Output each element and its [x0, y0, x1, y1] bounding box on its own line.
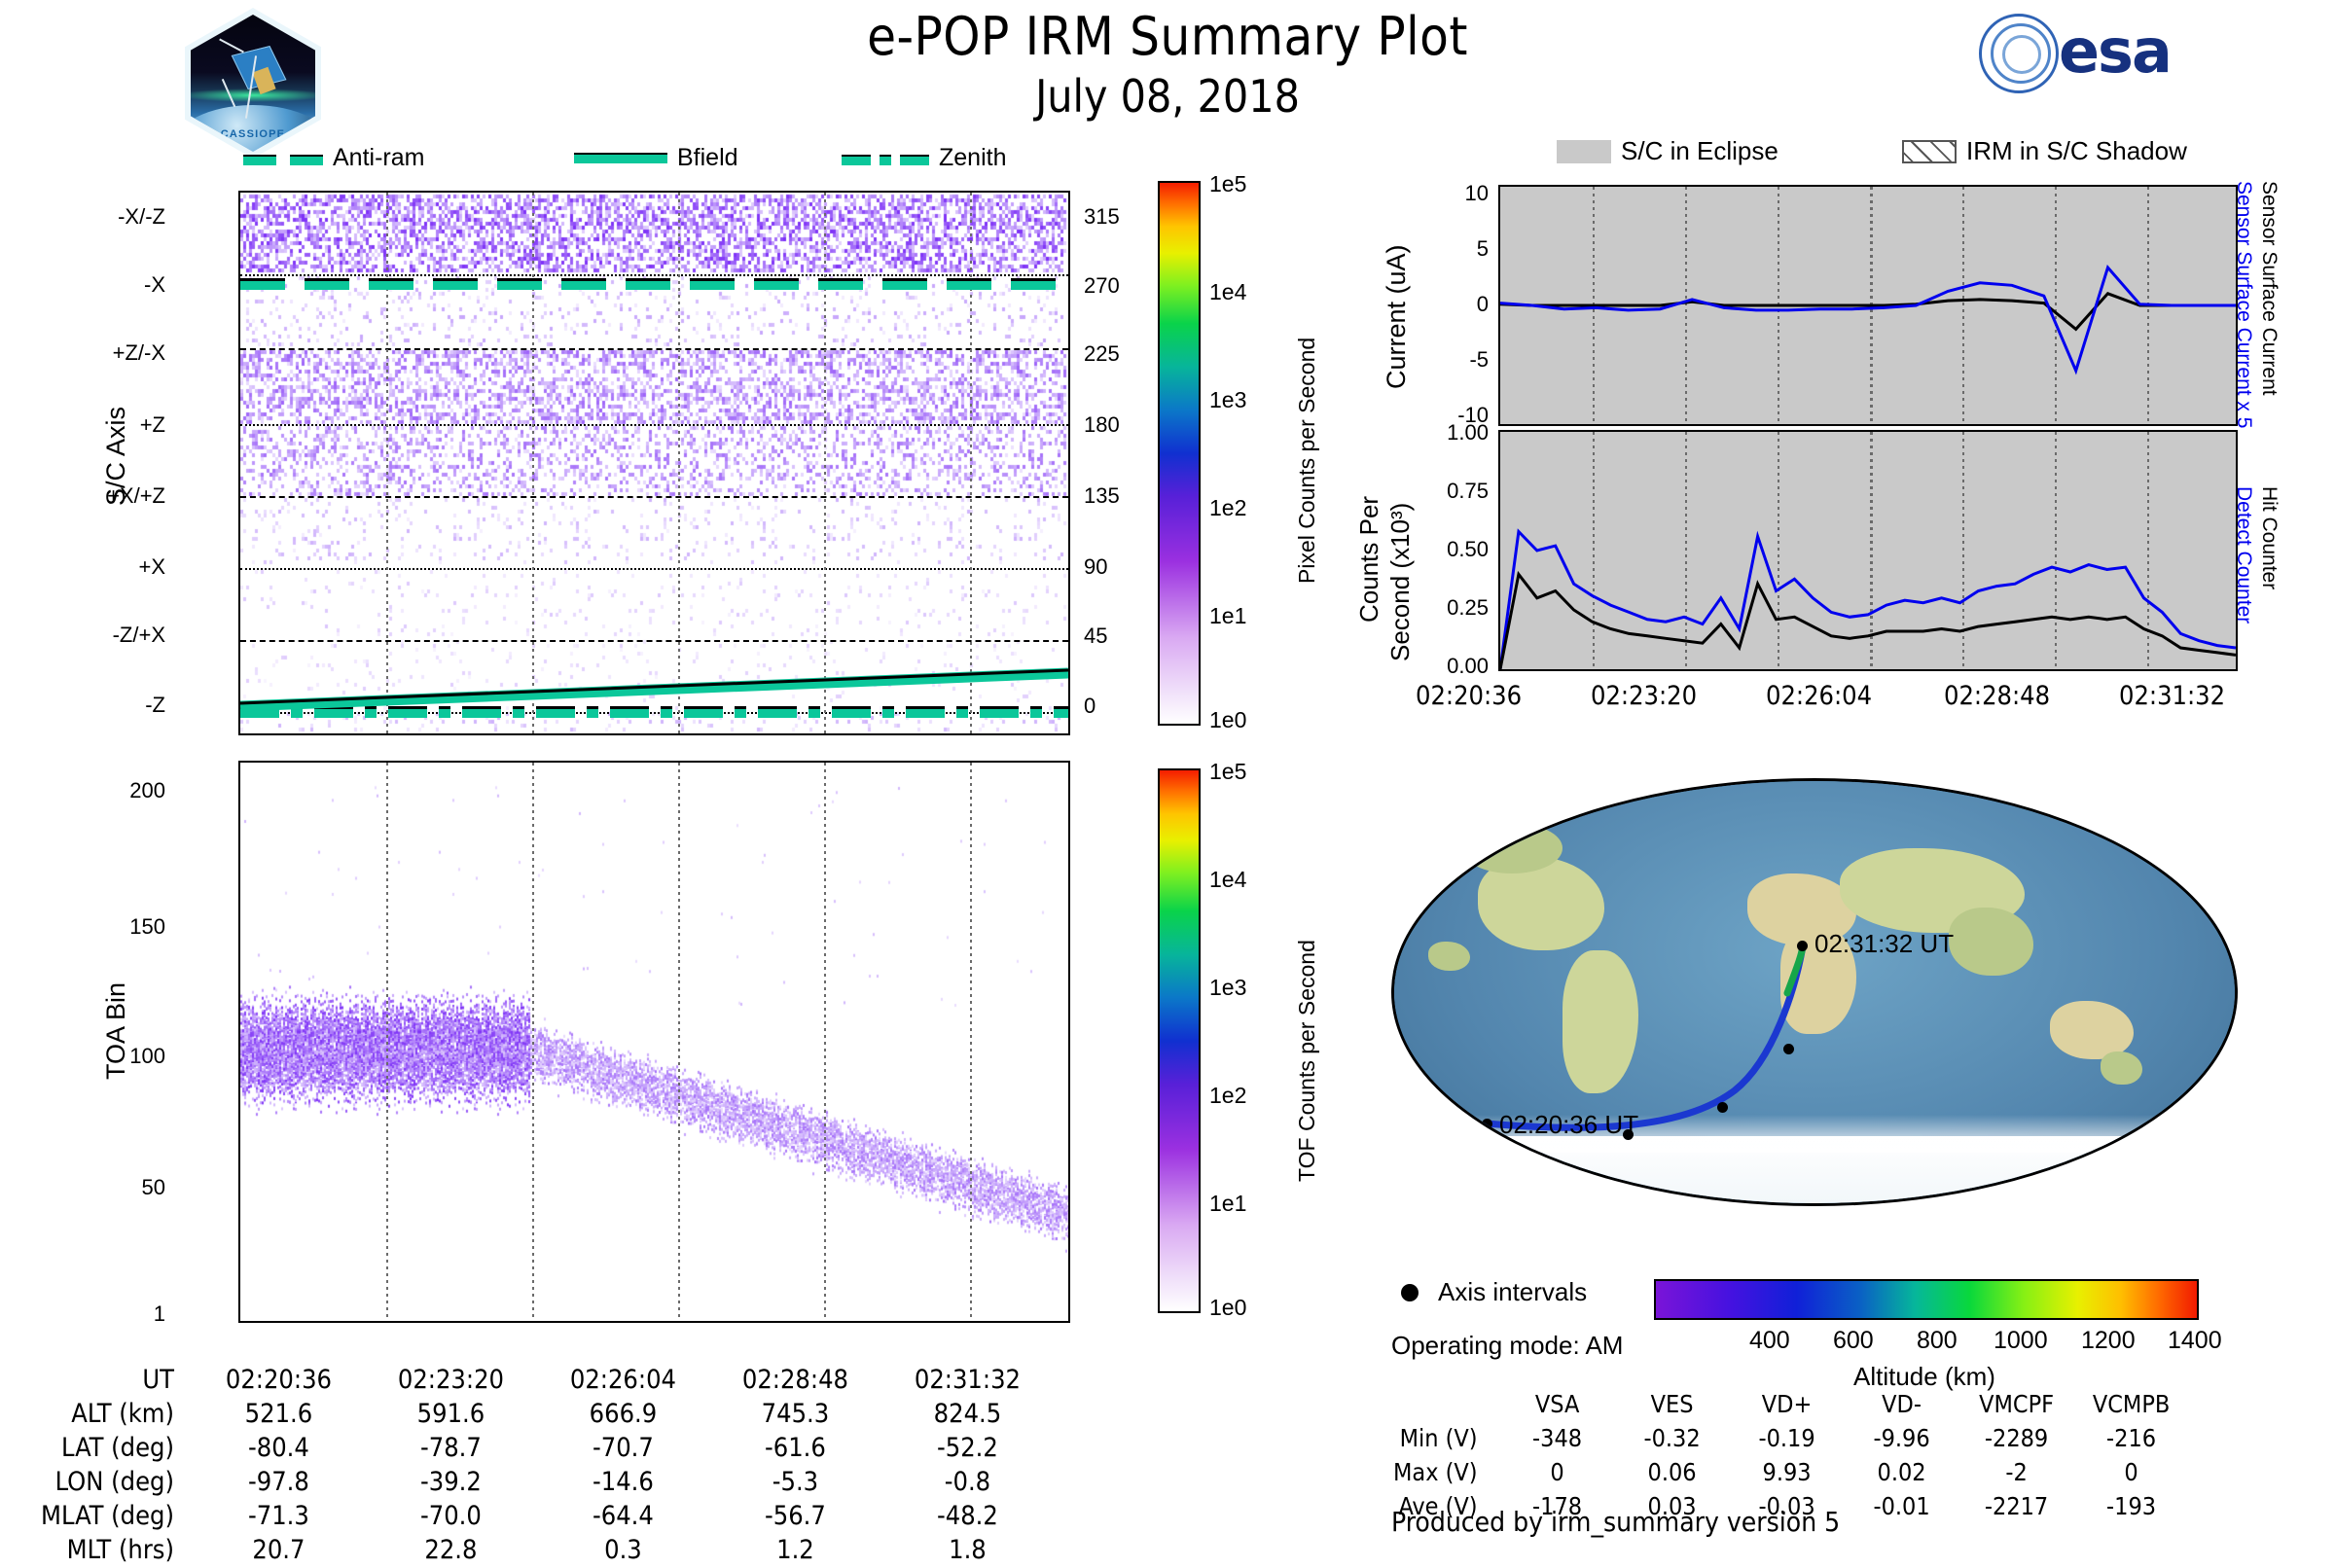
cell: 9.93: [1731, 1456, 1844, 1488]
table-row: Min (V)-348-0.32-0.19-9.96-2289-216: [1393, 1422, 2188, 1454]
track-point-end: [1797, 941, 1808, 951]
column-header: VCMPB: [2075, 1388, 2188, 1420]
bfield-line-icon: [574, 153, 667, 163]
table-row: MLT (hrs)20.722.80.31.21.8: [41, 1534, 1053, 1566]
eclipse-swatch-icon: [1557, 140, 1611, 163]
ytick-sc-7: -Z: [68, 693, 165, 718]
ytick-toa-2: 100: [68, 1044, 165, 1069]
footer-produced-by: Produced by irm_summary version 5: [1391, 1506, 1840, 1538]
cell: 0.06: [1616, 1456, 1729, 1488]
cell: 02:23:20: [366, 1364, 536, 1396]
ytick-cnt-2: 0.50: [1362, 537, 1489, 562]
orbit-track: [1394, 781, 2238, 1206]
xtick-r-2: 02:26:04: [1766, 681, 1872, 711]
ytick-sc-3: +Z: [68, 412, 165, 438]
row-label: UT: [41, 1364, 192, 1396]
cb2-tick-2: 1e3: [1209, 975, 1246, 1001]
table-row: MLAT (deg)-71.3-70.0-64.4-56.7-48.2: [41, 1500, 1053, 1532]
cell: 20.7: [194, 1534, 364, 1566]
bfield-overlay: [240, 193, 1068, 733]
axis-interval-dot-icon: [1401, 1284, 1419, 1301]
altbar-tick-0: 400: [1749, 1327, 1790, 1355]
ytick-cur-2: 0: [1401, 292, 1489, 317]
rtick-angle-3: 180: [1084, 412, 1120, 438]
cell: -2: [1960, 1456, 2073, 1488]
ytick-toa-0: 200: [68, 778, 165, 803]
anti-ram-line-icon: [243, 144, 323, 172]
esa-wordmark: esa: [2059, 16, 2171, 87]
table-row: LAT (deg)-80.4-78.7-70.7-61.6-52.2: [41, 1432, 1053, 1464]
cb2-tick-5: 1e0: [1209, 1295, 1246, 1321]
cell: 02:28:48: [710, 1364, 880, 1396]
ytick-sc-5: +X: [68, 554, 165, 580]
cell: 745.3: [710, 1398, 880, 1430]
cell: -78.7: [366, 1432, 536, 1464]
cb1-tick-4: 1e1: [1209, 603, 1246, 629]
ytick-cnt-4: 0.00: [1362, 654, 1489, 679]
tof-counts-colorbar-label: TOF Counts per Second: [1294, 940, 1320, 1182]
cell: 0.02: [1846, 1456, 1958, 1488]
current-traces: [1500, 187, 2236, 424]
rtick-angle-2: 225: [1084, 341, 1120, 367]
cell: 02:26:04: [538, 1364, 708, 1396]
cell: -80.4: [194, 1432, 364, 1464]
ground-track-map[interactable]: 02:20:36 UT 02:31:32 UT: [1391, 778, 2238, 1206]
cell: 666.9: [538, 1398, 708, 1430]
row-label: Min (V): [1393, 1422, 1499, 1454]
cell: -216: [2075, 1422, 2188, 1454]
cell: -9.96: [1846, 1422, 1958, 1454]
ytick-toa-4: 1: [68, 1301, 165, 1327]
cb1-tick-0: 1e5: [1209, 171, 1246, 197]
counter-rates-plot[interactable]: [1498, 430, 2238, 671]
sensor-current-plot[interactable]: [1498, 185, 2238, 426]
ytick-cnt-3: 0.25: [1362, 595, 1489, 621]
column-header: VES: [1616, 1388, 1729, 1420]
cell: -64.4: [538, 1500, 708, 1532]
counter-traces: [1500, 432, 2236, 669]
cell: -193: [2075, 1490, 2188, 1522]
table-row: ALT (km)521.6591.6666.9745.3824.5: [41, 1398, 1053, 1430]
altbar-tick-1: 600: [1833, 1327, 1874, 1355]
ytick-cur-1: 5: [1401, 236, 1489, 262]
table-row: LON (deg)-97.8-39.2-14.6-5.3-0.8: [41, 1466, 1053, 1498]
counts-right-label-blue: Detect Counter: [2232, 486, 2255, 624]
ytick-sc-1: -X: [68, 272, 165, 298]
cb2-tick-4: 1e1: [1209, 1191, 1246, 1217]
rtick-angle-4: 135: [1084, 483, 1120, 509]
ephemeris-table: UT02:20:3602:23:2002:26:0402:28:4802:31:…: [39, 1362, 1055, 1568]
altitude-colorbar: [1654, 1279, 2199, 1320]
column-header: VD-: [1846, 1388, 1958, 1420]
current-right-label-black: Sensor Surface Current: [2257, 181, 2281, 396]
altbar-tick-2: 800: [1917, 1327, 1958, 1355]
xtick-r-1: 02:23:20: [1591, 681, 1697, 711]
cell: 0.3: [538, 1534, 708, 1566]
rtick-angle-1: 270: [1084, 273, 1120, 299]
cell: -0.01: [1846, 1490, 1958, 1522]
row-label: MLAT (deg): [41, 1500, 192, 1532]
cell: -70.7: [538, 1432, 708, 1464]
axis-overlay-legend: Anti-ram Bfield Zenith: [243, 144, 1041, 179]
cb2-tick-0: 1e5: [1209, 759, 1246, 785]
table-row: UT02:20:3602:23:2002:26:0402:28:4802:31:…: [41, 1364, 1053, 1396]
counts-right-label-black: Hit Counter: [2257, 486, 2281, 589]
axis-intervals-label: Axis intervals: [1438, 1277, 1587, 1307]
row-label: Max (V): [1393, 1456, 1499, 1488]
cassiope-mission-badge: CASSIOPE: [185, 8, 321, 159]
cb1-tick-1: 1e4: [1209, 279, 1246, 305]
ytick-sc-4: +X/+Z: [68, 483, 165, 509]
cb1-tick-3: 1e2: [1209, 495, 1246, 521]
column-header: VSA: [1501, 1388, 1614, 1420]
rtick-angle-6: 45: [1084, 624, 1107, 649]
column-header: VMCPF: [1960, 1388, 2073, 1420]
cell: 02:31:32: [882, 1364, 1053, 1396]
operating-mode-label: Operating mode: AM: [1391, 1331, 1623, 1361]
xtick-r-3: 02:28:48: [1944, 681, 2050, 711]
legend-label-anti-ram: Anti-ram: [333, 144, 424, 172]
xtick-r-0: 02:20:36: [1416, 681, 1522, 711]
ytick-toa-1: 150: [68, 914, 165, 940]
cell: -348: [1501, 1422, 1614, 1454]
cell: 22.8: [366, 1534, 536, 1566]
ytick-cur-0: 10: [1401, 181, 1489, 206]
counts-ylabel-line2: Second (x10³): [1385, 503, 1416, 661]
cell: -0.19: [1731, 1422, 1844, 1454]
cb2-tick-1: 1e4: [1209, 867, 1246, 893]
cell: 0: [1501, 1456, 1614, 1488]
cell: 521.6: [194, 1398, 364, 1430]
cell: -0.8: [882, 1466, 1053, 1498]
column-header: VD+: [1731, 1388, 1844, 1420]
cell: -0.32: [1616, 1422, 1729, 1454]
shadow-hatch-icon: [1902, 140, 1957, 163]
legend-label-eclipse: S/C in Eclipse: [1621, 136, 1778, 166]
ytick-sc-0: -X/-Z: [68, 204, 165, 230]
cb2-tick-3: 1e2: [1209, 1083, 1246, 1109]
cell: -14.6: [538, 1466, 708, 1498]
ytick-sc-6: -Z/+X: [68, 623, 165, 648]
cell: 02:20:36: [194, 1364, 364, 1396]
cell: -97.8: [194, 1466, 364, 1498]
cell: 1.8: [882, 1534, 1053, 1566]
xtick-r-4: 02:31:32: [2119, 681, 2225, 711]
legend-label-zenith: Zenith: [939, 144, 1006, 172]
eclipse-legend: S/C in Eclipse IRM in S/C Shadow: [1557, 136, 2238, 169]
esa-logo: esa: [1975, 12, 2238, 93]
track-point-3: [1717, 1102, 1728, 1113]
legend-label-shadow: IRM in S/C Shadow: [1966, 136, 2187, 166]
cell: 0: [2075, 1456, 2188, 1488]
cell: -70.0: [366, 1500, 536, 1532]
zenith-line-icon: [842, 144, 929, 172]
row-label: ALT (km): [41, 1398, 192, 1430]
pixel-counts-colorbar-label: Pixel Counts per Second: [1294, 338, 1320, 584]
rtick-angle-0: 315: [1084, 204, 1120, 230]
cell: 1.2: [710, 1534, 880, 1566]
cell: 591.6: [366, 1398, 536, 1430]
track-point-4: [1783, 1044, 1794, 1054]
cell: -61.6: [710, 1432, 880, 1464]
ytick-toa-3: 50: [68, 1175, 165, 1200]
cell: -56.7: [710, 1500, 880, 1532]
sc-axis-spectrogram[interactable]: [238, 191, 1070, 735]
cell: -48.2: [882, 1500, 1053, 1532]
row-label: LAT (deg): [41, 1432, 192, 1464]
toa-bin-spectrogram[interactable]: [238, 761, 1070, 1323]
cb1-tick-5: 1e0: [1209, 707, 1246, 733]
rtick-angle-5: 90: [1084, 554, 1107, 580]
altbar-tick-5: 1400: [2168, 1327, 2222, 1355]
row-label: MLT (hrs): [41, 1534, 192, 1566]
row-label: LON (deg): [41, 1466, 192, 1498]
ytick-cnt-0: 1.00: [1362, 420, 1489, 445]
rtick-angle-7: 0: [1084, 694, 1096, 719]
track-end-label: 02:31:32 UT: [1814, 929, 1954, 959]
table-row: Max (V)00.069.930.02-20: [1393, 1456, 2188, 1488]
cell: -2289: [1960, 1422, 2073, 1454]
cell: -39.2: [366, 1466, 536, 1498]
voltage-summary-table: VSAVESVD+VD-VMCPFVCMPB Min (V)-348-0.32-…: [1391, 1386, 2190, 1524]
current-right-label-blue: Sensor Surface Current x 5: [2232, 181, 2255, 428]
cb1-tick-2: 1e3: [1209, 387, 1246, 413]
cell: -5.3: [710, 1466, 880, 1498]
tof-counts-colorbar: [1158, 768, 1201, 1313]
legend-label-bfield: Bfield: [677, 144, 738, 172]
ytick-cur-3: -5: [1401, 347, 1489, 373]
cell: 824.5: [882, 1398, 1053, 1430]
altbar-tick-3: 1000: [1994, 1327, 2048, 1355]
ytick-sc-2: +Z/-X: [68, 340, 165, 366]
altbar-tick-4: 1200: [2081, 1327, 2136, 1355]
cell: -71.3: [194, 1500, 364, 1532]
track-start-label: 02:20:36 UT: [1499, 1110, 1638, 1140]
pixel-counts-colorbar: [1158, 181, 1201, 726]
track-point-start: [1482, 1119, 1492, 1129]
ytick-cnt-1: 0.75: [1362, 479, 1489, 504]
cell: -2217: [1960, 1490, 2073, 1522]
cell: -52.2: [882, 1432, 1053, 1464]
